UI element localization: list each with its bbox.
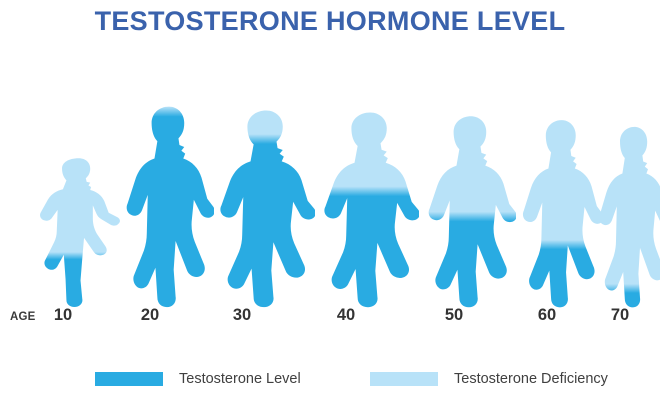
walking-man-silhouette-age-30 <box>211 103 315 310</box>
age-tick-70: 70 <box>600 306 640 325</box>
walking-man-silhouette-age-60 <box>515 113 603 310</box>
testosterone-infographic: TESTOSTERONE HORMONE LEVEL AGE 102030405… <box>0 0 660 400</box>
age-axis: AGE 10203040506070 <box>0 305 660 333</box>
age-tick-30: 30 <box>222 306 262 325</box>
age-tick-20: 20 <box>130 306 170 325</box>
level-swatch <box>95 372 163 386</box>
age-axis-label: AGE <box>10 311 36 323</box>
walking-man-silhouette-age-40 <box>315 105 419 310</box>
legend: Testosterone LevelTestosterone Deficienc… <box>0 368 660 392</box>
walking-man-silhouette-age-70 <box>592 120 660 310</box>
legend-label: Testosterone Deficiency <box>454 371 608 387</box>
age-tick-60: 60 <box>527 306 567 325</box>
age-tick-50: 50 <box>434 306 474 325</box>
figure-strip <box>0 60 660 310</box>
legend-label: Testosterone Level <box>179 371 301 387</box>
deficiency-swatch <box>370 372 438 386</box>
walking-man-silhouette-age-50 <box>420 109 516 310</box>
walking-man-silhouette-age-20 <box>118 99 214 310</box>
legend-item-deficiency: Testosterone Deficiency <box>370 368 608 390</box>
walking-child-silhouette-age-10 <box>33 148 121 310</box>
legend-item-level: Testosterone Level <box>95 368 301 390</box>
age-tick-10: 10 <box>43 306 83 325</box>
page-title: TESTOSTERONE HORMONE LEVEL <box>0 6 660 37</box>
age-tick-40: 40 <box>326 306 366 325</box>
